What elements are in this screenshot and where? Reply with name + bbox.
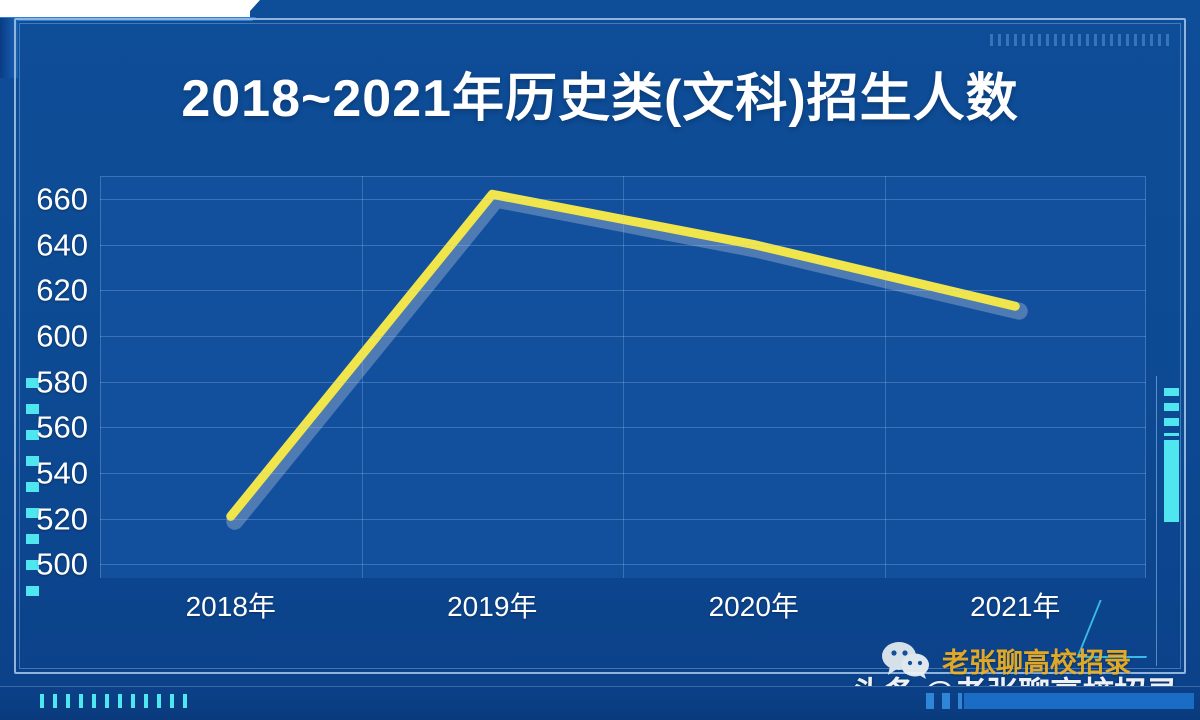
gridline-vertical [362,176,363,578]
y-tick-label: 640 [36,229,88,260]
x-tick-label: 2018年 [186,592,276,623]
y-tick-label: 540 [36,457,88,488]
y-tick-label: 500 [36,549,88,580]
y-axis: 500520540560580600620640660 [0,176,96,578]
y-tick-label: 560 [36,412,88,443]
gridline-vertical [623,176,624,578]
y-tick-label: 620 [36,275,88,306]
bottom-ticks-decoration [40,694,190,708]
slide-background: 2018~2021年历史类(文科)招生人数 500520540560580600… [0,0,1200,720]
y-tick-label: 520 [36,503,88,534]
x-axis: 2018年2019年2020年2021年 [100,592,1146,632]
x-tick-label: 2021年 [970,592,1060,623]
cyan-bar-ticks-decoration [1164,388,1179,436]
y-tick-label: 600 [36,320,88,351]
x-tick-label: 2020年 [709,592,799,623]
bottom-right-ticks-decoration [926,693,962,709]
y-tick-label: 660 [36,183,88,214]
bottom-right-bar-decoration [964,693,1194,709]
barcode-decoration-icon [990,34,1170,46]
chart-title: 2018~2021年历史类(文科)招生人数 [0,56,1200,131]
plot-area [100,176,1146,578]
cyan-bar-decoration [1164,440,1179,522]
gridline-vertical [885,176,886,578]
x-tick-label: 2019年 [447,592,537,623]
y-tick-label: 580 [36,366,88,397]
